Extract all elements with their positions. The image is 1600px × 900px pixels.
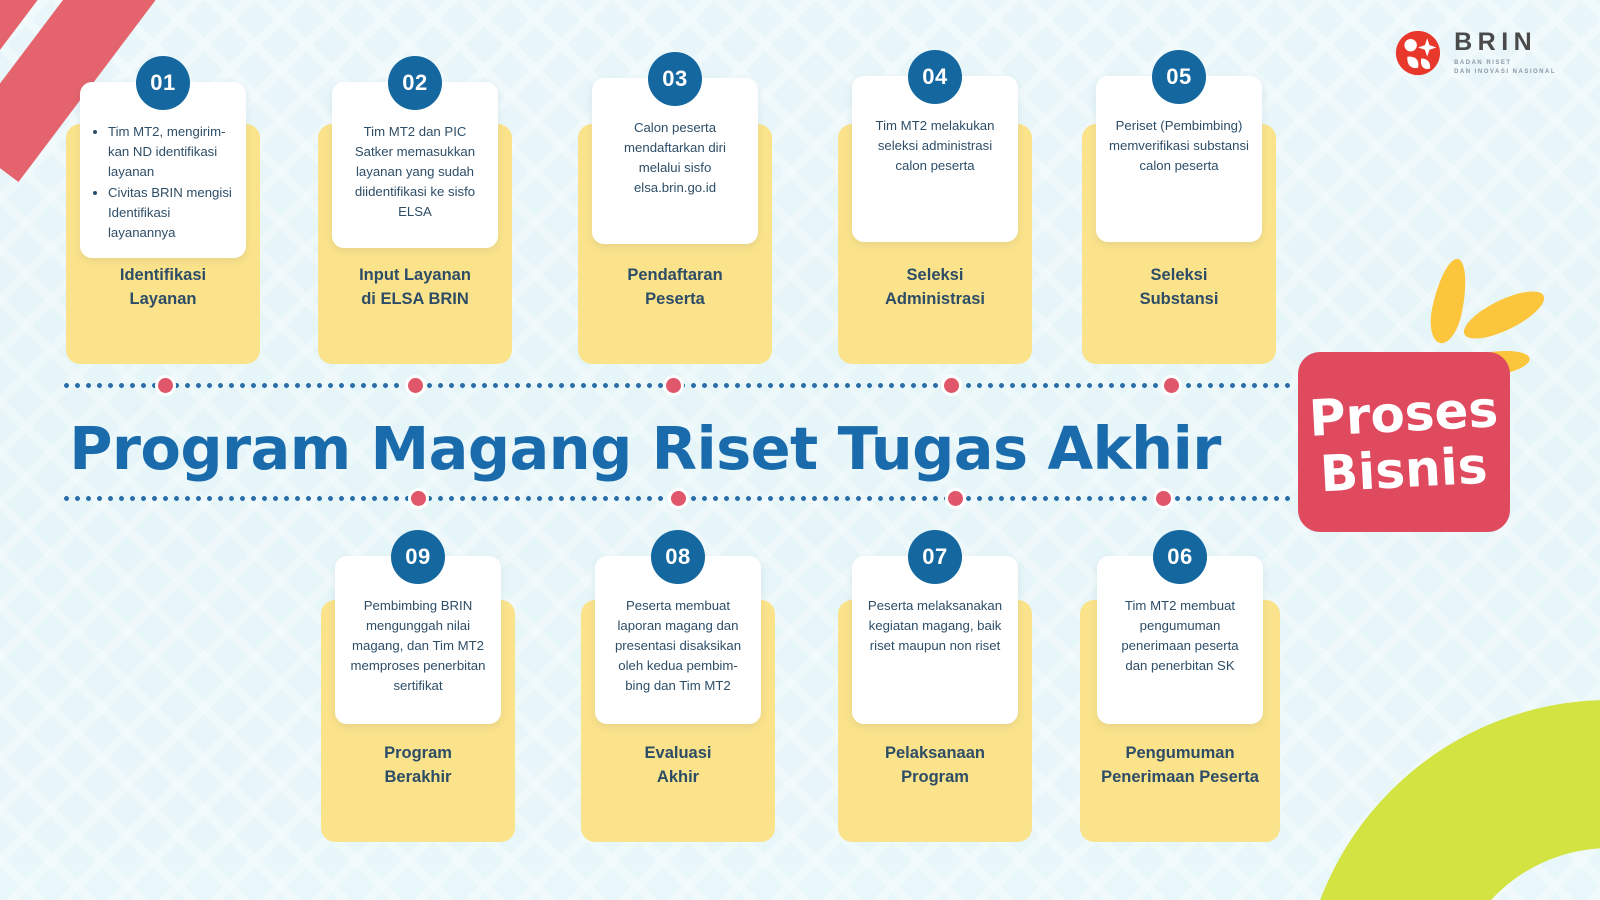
step-body: Calon peserta mendaftarkan diri melalui … — [604, 118, 746, 198]
timeline-node — [668, 488, 689, 509]
step-title: Seleksi Substansi — [1082, 264, 1276, 312]
step-body: Tim MT2 membuat pengumuman penerimaan pe… — [1109, 596, 1251, 676]
step-card-01[interactable]: 01 Tim MT2, mengirim-kan ND identifikasi… — [66, 82, 260, 258]
step-title-line1: Pendaftaran — [578, 264, 772, 288]
timeline-node — [405, 375, 426, 396]
badge-line-1: Proses — [1308, 385, 1499, 443]
step-card-02[interactable]: 02 Tim MT2 dan PIC Satker memasukkan lay… — [318, 82, 512, 248]
timeline-node — [945, 488, 966, 509]
step-number-badge: 05 — [1152, 50, 1206, 104]
step-card-09[interactable]: 09 Pembimbing BRIN mengunggah nilai maga… — [321, 556, 515, 724]
step-title-line2: Berakhir — [321, 766, 515, 790]
step-title-line1: Seleksi — [838, 264, 1032, 288]
step-title: Evaluasi Akhir — [581, 742, 775, 790]
step-number-badge: 07 — [908, 530, 962, 584]
step-number-badge: 01 — [136, 56, 190, 110]
brin-circle-mark-icon — [1395, 30, 1441, 76]
timeline-node — [1161, 375, 1182, 396]
step-title-line2: Program — [838, 766, 1032, 790]
step-title: Identifikasi Layanan — [66, 264, 260, 312]
brin-logo: BRIN BADAN RISET DAN INOVASI NASIONAL — [1395, 30, 1556, 76]
step-number-badge: 04 — [908, 50, 962, 104]
step-title: Seleksi Administrasi — [838, 264, 1032, 312]
step-card-04[interactable]: 04 Tim MT2 melakukan seleksi administras… — [838, 76, 1032, 242]
card-white-panel: 06 Tim MT2 membuat pengumuman penerimaan… — [1097, 556, 1263, 724]
card-white-panel: 07 Peserta melaksanakan kegiatan magang,… — [852, 556, 1018, 724]
timeline-node — [1153, 488, 1174, 509]
timeline-node — [408, 488, 429, 509]
badge-line-2: Bisnis — [1319, 442, 1489, 499]
card-white-panel: 09 Pembimbing BRIN mengunggah nilai maga… — [335, 556, 501, 724]
step-body: Periset (Pembimbing) memverifikasi subst… — [1108, 116, 1250, 176]
timeline-node — [155, 375, 176, 396]
step-number-badge: 03 — [648, 52, 702, 106]
timeline-node — [941, 375, 962, 396]
step-body: Tim MT2 melakukan seleksi administrasi c… — [864, 116, 1006, 176]
step-title: Pelaksanaan Program — [838, 742, 1032, 790]
step-title-line2: Substansi — [1082, 288, 1276, 312]
step-title: Pengumuman Penerimaan Peserta — [1080, 742, 1280, 790]
step-body-item: Tim MT2, mengirim-kan ND identifikasi la… — [108, 122, 234, 182]
card-white-panel: 05 Periset (Pembimbing) memverifikasi su… — [1096, 76, 1262, 242]
step-body-item: Civitas BRIN mengisi Identifikasi layana… — [108, 183, 234, 243]
step-body: Tim MT2, mengirim-kan ND identifikasi la… — [92, 122, 234, 243]
step-title-line1: Input Layanan — [318, 264, 512, 288]
step-title-line1: Seleksi — [1082, 264, 1276, 288]
step-title-line1: Evaluasi — [581, 742, 775, 766]
step-number-badge: 06 — [1153, 530, 1207, 584]
step-title: Pendaftaran Peserta — [578, 264, 772, 312]
brin-tagline-line1: BADAN RISET — [1454, 59, 1556, 68]
brin-tagline: BADAN RISET DAN INOVASI NASIONAL — [1454, 59, 1556, 76]
step-number-badge: 09 — [391, 530, 445, 584]
step-body: Peserta melaksanakan kegiatan magang, ba… — [864, 596, 1006, 656]
step-title-line1: Program — [321, 742, 515, 766]
step-body: Tim MT2 dan PIC Satker memasukkan layana… — [344, 122, 486, 222]
step-title-line2: Peserta — [578, 288, 772, 312]
step-card-05[interactable]: 05 Periset (Pembimbing) memverifikasi su… — [1082, 76, 1276, 242]
step-title: Input Layanan di ELSA BRIN — [318, 264, 512, 312]
proses-bisnis-badge: Proses Bisnis — [1298, 352, 1510, 532]
card-white-panel: 08 Peserta membuat laporan magang dan pr… — [595, 556, 761, 724]
step-title-line1: Pelaksanaan — [838, 742, 1032, 766]
timeline-node — [663, 375, 684, 396]
step-title-line1: Identifikasi — [66, 264, 260, 288]
card-white-panel: 03 Calon peserta mendaftarkan diri melal… — [592, 78, 758, 244]
card-white-panel: 02 Tim MT2 dan PIC Satker memasukkan lay… — [332, 82, 498, 248]
step-title-line2: Penerimaan Peserta — [1080, 766, 1280, 790]
brin-tagline-line2: DAN INOVASI NASIONAL — [1454, 68, 1556, 77]
page-title: Program Magang Riset Tugas Akhir — [0, 414, 1290, 483]
step-title: Program Berakhir — [321, 742, 515, 790]
brin-wordmark: BRIN — [1454, 30, 1556, 55]
step-body: Pembimbing BRIN mengunggah nilai magang,… — [347, 596, 489, 696]
step-title-line2: di ELSA BRIN — [318, 288, 512, 312]
card-white-panel: 01 Tim MT2, mengirim-kan ND identifikasi… — [80, 82, 246, 258]
step-body: Peserta membuat laporan magang dan prese… — [607, 596, 749, 696]
step-title-line2: Layanan — [66, 288, 260, 312]
card-white-panel: 04 Tim MT2 melakukan seleksi administras… — [852, 76, 1018, 242]
step-number-badge: 08 — [651, 530, 705, 584]
step-number-badge: 02 — [388, 56, 442, 110]
step-title-line2: Akhir — [581, 766, 775, 790]
step-title-line1: Pengumuman — [1080, 742, 1280, 766]
step-title-line2: Administrasi — [838, 288, 1032, 312]
step-card-07[interactable]: 07 Peserta melaksanakan kegiatan magang,… — [838, 556, 1032, 724]
step-card-06[interactable]: 06 Tim MT2 membuat pengumuman penerimaan… — [1080, 556, 1280, 724]
step-card-03[interactable]: 03 Calon peserta mendaftarkan diri melal… — [578, 78, 772, 244]
step-card-08[interactable]: 08 Peserta membuat laporan magang dan pr… — [581, 556, 775, 724]
